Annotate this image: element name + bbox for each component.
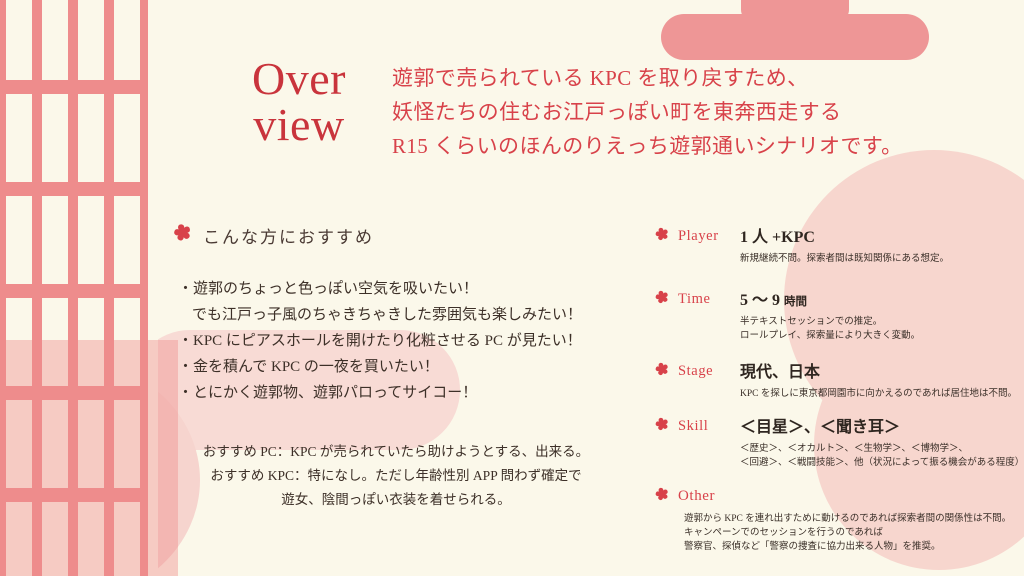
spec-row-head: Skill ＜目星＞、＜聞き耳＞ [654,416,1014,437]
recommend-bullet-list: ・遊郭のちょっと色っぽい空気を吸いたい！でも江戸っ子風のちゃきちゃきした雰囲気も… [178,276,648,406]
plum-blossom-icon [654,416,670,437]
spec-key: Other [678,488,715,505]
recommend-footnotes: おすすめ PC：KPC が売られていたら助けようとする、出来る。おすすめ KPC… [186,440,606,512]
slide-root: Over view 遊郭で売られている KPC を取り戻すため、 妖怪たちの住む… [0,0,1024,576]
spec-value: 1 人 +KPC [740,223,815,247]
plum-blossom-icon [654,226,670,247]
spec-key: Time [678,291,711,308]
recommend-section-header: こんな方におすすめ [172,222,374,248]
spec-row-skill: Skill ＜目星＞、＜聞き耳＞ ＜歴史＞、＜オカルト＞、＜生物学＞、＜博物学＞… [654,416,1014,470]
spec-key: Player [678,228,719,245]
spec-note-line: ＜歴史＞、＜オカルト＞、＜生物学＞、＜博物学＞、 [740,442,1014,456]
spec-row-time: Time 5 〜 9 時間 半テキストセッションでの推定。 ロールプレイ、探索量… [654,289,1014,343]
spec-notes: KPC を探しに東京都岡園市に向かえるのであれば居住地は不問。 [740,387,1014,401]
spec-note-line: 半テキストセッションでの推定。 [740,315,1014,329]
spec-row-other: Other 遊郭から KPC を連れ出すために動けるのであれば探索者間の関係性は… [654,486,1014,554]
recommend-bullet: ・遊郭のちょっと色っぽい空気を吸いたい！ [178,276,648,302]
spec-note-line: ロールプレイ、探索量により大きく変動。 [740,329,1014,343]
page-title: Over view [224,56,374,148]
plum-blossom-icon [172,222,193,248]
spec-value: ＜目星＞、＜聞き耳＞ [740,413,900,437]
spec-value-text: ＜目星＞、＜聞き耳＞ [740,419,900,436]
spec-notes: 新規継続不問。探索者間は既知関係にある想定。 [740,252,1014,266]
spec-note-line: KPC を探しに東京都岡園市に向かえるのであれば居住地は不問。 [740,387,1014,401]
spec-value-unit: 時間 [784,296,807,308]
recommend-bullet: ・KPC にピアスホールを開けたり化粧させる PC が見たい！ [178,328,648,354]
page-title-line1: Over [224,56,374,102]
overview-lead-line: R15 くらいのほんのりえっち遊郭通いシナリオです。 [392,129,903,163]
spec-row-head: Player 1 人 +KPC [654,226,1014,247]
recommend-footnote: 遊女、陰間っぽい衣装を着せられる。 [186,488,606,512]
spec-note-line: キャンペーンでのセッションを行うのであれば [684,526,1014,540]
spec-value-text: 5 〜 9 [740,292,780,309]
spec-value: 5 〜 9 時間 [740,286,807,310]
spec-note-line: ＜回避＞、＜戦闘技能＞、他（状況によって振る機会がある程度） [740,456,1014,470]
spec-row-stage: Stage 現代、日本 KPC を探しに東京都岡園市に向かえるのであれば居住地は… [654,361,1014,401]
recommend-footnote: おすすめ PC：KPC が売られていたら助けようとする、出来る。 [186,440,606,464]
spec-value-text: 1 人 +KPC [740,229,815,246]
spec-notes: 遊郭から KPC を連れ出すために動けるのであれば探索者間の関係性は不問。 キャ… [684,512,1014,554]
spec-note-line: 警察官、探偵など「警察の捜査に協力出来る人物」を推奨。 [684,540,1014,554]
decor-lattice-panel [0,0,158,576]
spec-note-line: 遊郭から KPC を連れ出すために動けるのであれば探索者間の関係性は不問。 [684,512,1014,526]
spec-row-head: Other [654,486,1014,507]
plum-blossom-icon [654,361,670,382]
spec-notes: ＜歴史＞、＜オカルト＞、＜生物学＞、＜博物学＞、 ＜回避＞、＜戦闘技能＞、他（状… [740,442,1014,470]
spec-value-text: 現代、日本 [740,364,820,381]
overview-lead: 遊郭で売られている KPC を取り戻すため、 妖怪たちの住むお江戸っぽい町を東奔… [392,61,903,163]
plum-blossom-icon [654,289,670,310]
spec-value: 現代、日本 [740,358,820,382]
recommend-bullet: ・金を積んで KPC の一夜を買いたい！ [178,354,648,380]
overview-lead-line: 遊郭で売られている KPC を取り戻すため、 [392,61,903,95]
spec-row-head: Time 5 〜 9 時間 [654,289,1014,310]
decor-noren-stem [741,0,849,20]
recommend-bullet: でも江戸っ子風のちゃきちゃきした雰囲気も楽しみたい！ [178,302,648,328]
spec-row-head: Stage 現代、日本 [654,361,1014,382]
spec-key: Stage [678,363,713,380]
spec-key: Skill [678,418,708,435]
plum-blossom-icon [654,486,670,507]
recommend-bullet: ・とにかく遊郭物、遊郭パロってサイコー！ [178,380,648,406]
recommend-footnote: おすすめ KPC：特になし。ただし年齢性別 APP 問わず確定で [186,464,606,488]
spec-row-player: Player 1 人 +KPC 新規継続不問。探索者間は既知関係にある想定。 [654,226,1014,266]
page-title-line2: view [224,102,374,148]
recommend-heading: こんな方におすすめ [203,223,374,248]
spec-note-line: 新規継続不問。探索者間は既知関係にある想定。 [740,252,1014,266]
spec-notes: 半テキストセッションでの推定。 ロールプレイ、探索量により大きく変動。 [740,315,1014,343]
overview-lead-line: 妖怪たちの住むお江戸っぽい町を東奔西走する [392,95,903,129]
decor-noren-bar [661,14,929,60]
